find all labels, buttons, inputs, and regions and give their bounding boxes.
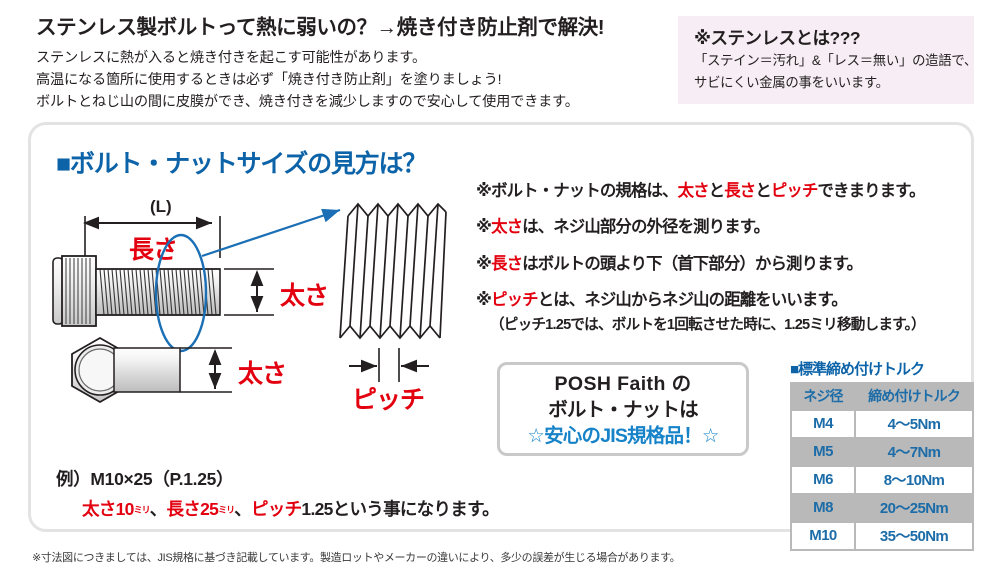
example-part-unit: ミリ xyxy=(134,505,150,515)
bullet-spec: ※ボルト・ナットの規格は、太さと長さとピッチできまります。 xyxy=(476,183,991,199)
table-header-row: ネジ径 締め付けトルク xyxy=(792,384,972,409)
bullet-part: ※ xyxy=(476,255,491,273)
thickness-label-bolt: 太さ xyxy=(280,282,328,310)
example-part: ピッチ xyxy=(251,499,301,519)
bullet-part-highlight: ピッチ xyxy=(491,291,538,309)
header-line: 高温になる箇所に使用するときは必ず「焼き付き防止剤」を塗りましょう! xyxy=(36,69,656,91)
table-row: M4 4〜5Nm xyxy=(792,411,972,437)
posh-faith-box: POSH Faith の ボルト・ナットは ☆安心のJIS規格品！☆ xyxy=(497,362,749,456)
page-title: ステンレス製ボルトって熱に弱いの？→焼き付き防止剤で解決! xyxy=(36,16,656,40)
cell-torque: 4〜7Nm xyxy=(856,439,972,465)
bullet-part: ※ xyxy=(476,291,491,309)
footnote: ※寸法図につきましては、JIS規格に基づき記載しています。製造ロットやメーカーの… xyxy=(32,549,680,565)
posh-line-2: ボルト・ナットは xyxy=(500,398,746,424)
cell-torque: 8〜10Nm xyxy=(856,467,972,493)
stainless-box-line: 「ステイン＝汚れ」&「レス＝無い」の造語で、 xyxy=(694,51,960,72)
torque-table-block: ■標準締め付けトルク ネジ径 締め付けトルク M4 4〜5Nm M5 4〜7Nm xyxy=(790,358,974,551)
column-header-torque: 締め付けトルク xyxy=(856,384,972,409)
example-part-unit: ミリ xyxy=(218,505,234,515)
stainless-box-title: ※ステンレスとは??? xyxy=(694,25,960,50)
table-row: M10 35〜50Nm xyxy=(792,523,972,549)
bullet-part-highlight: ピッチ xyxy=(771,182,818,200)
table-row: M8 20〜25Nm xyxy=(792,495,972,521)
example-line-2: 太さ10ミリ、長さ25ミリ、ピッチ1.25という事になります。 xyxy=(56,496,499,521)
bolt-nut-diagram: (L) 長さ xyxy=(52,196,482,461)
callout-leader-line xyxy=(202,210,340,256)
cell-torque: 20〜25Nm xyxy=(856,495,972,521)
header-description: ステンレスに熱が入ると焼き付きを起こす可能性があります。 高温になる箇所に使用す… xyxy=(36,47,656,113)
bullet-part-highlight: 太さ xyxy=(491,218,522,236)
bullet-part-highlight: 長さ xyxy=(724,182,755,200)
table-row: M5 4〜7Nm xyxy=(792,439,972,465)
bullet-part-highlight: 長さ xyxy=(491,255,522,273)
torque-table-title: ■標準締め付けトルク xyxy=(790,358,974,379)
bullet-pitch: ※ピッチとは、ネジ山からネジ山の距離をいいます。 xyxy=(476,292,991,308)
thickness-label-nut: 太さ xyxy=(238,360,286,388)
diagram-svg: (L) 長さ xyxy=(52,196,482,456)
cell-torque: 35〜50Nm xyxy=(856,523,972,549)
stainless-definition-box: ※ステンレスとは??? 「ステイン＝汚れ」&「レス＝無い」の造語で、 サビにくい… xyxy=(678,16,974,104)
column-header-size: ネジ径 xyxy=(792,384,854,409)
example-part: 、 xyxy=(150,499,167,519)
example-part: 長さ25 xyxy=(167,499,219,519)
cell-size: M10 xyxy=(792,523,854,549)
header-line: ステンレスに熱が入ると焼き付きを起こす可能性があります。 xyxy=(36,47,656,69)
bullet-part: ※ボルト・ナットの規格は、 xyxy=(476,182,678,200)
example-part: 、 xyxy=(234,499,251,519)
pitch-label: ピッチ xyxy=(352,386,424,414)
bullet-part: できまります。 xyxy=(817,182,924,200)
bullet-part: と xyxy=(709,182,725,200)
bullet-pitch-note: （ピッチ1.25では、ボルトを1回転させた時に、1.25ミリ移動します。） xyxy=(476,318,991,333)
bullet-part: はボルトの頭より下（首下部分）から測ります。 xyxy=(522,255,862,273)
bullet-part: とは、ネジ山からネジ山の距離をいいます。 xyxy=(538,291,847,309)
torque-table: ネジ径 締め付けトルク M4 4〜5Nm M5 4〜7Nm M6 8〜10Nm xyxy=(790,382,974,551)
posh-line-3: ☆安心のJIS規格品！☆ xyxy=(500,424,746,449)
infographic-page: ステンレス製ボルトって熱に弱いの？→焼き付き防止剤で解決! ステンレスに熱が入る… xyxy=(0,0,1000,572)
panel-title: ■ボルト・ナットサイズの見方は？ xyxy=(56,144,426,180)
example-block: 例）M10×25（P.1.25） 太さ10ミリ、長さ25ミリ、ピッチ1.25とい… xyxy=(56,466,499,521)
bullet-part: と xyxy=(755,182,771,200)
bullet-part: ※ xyxy=(476,218,491,236)
stainless-box-line: サビにくい金属の事をいいます。 xyxy=(694,73,960,94)
posh-line-1: POSH Faith の xyxy=(500,372,746,398)
bullet-part: は、ネジ山部分の外径を測ります。 xyxy=(522,218,769,236)
bullet-length: ※長さはボルトの頭より下（首下部分）から測ります。 xyxy=(476,256,991,272)
example-part: 1.25という事になります。 xyxy=(301,499,499,519)
cell-torque: 4〜5Nm xyxy=(856,411,972,437)
cell-size: M4 xyxy=(792,411,854,437)
example-part: 太さ10 xyxy=(82,499,134,519)
header-line: ボルトとねじ山の間に皮膜ができ、焼き付きを減少しますので安心して使用できます。 xyxy=(36,91,656,113)
bullet-list: ※ボルト・ナットの規格は、太さと長さとピッチできまります。 ※太さは、ネジ山部分… xyxy=(476,183,991,352)
bullet-part-highlight: 太さ xyxy=(678,182,709,200)
example-line-1: 例）M10×25（P.1.25） xyxy=(56,466,499,491)
table-row: M6 8〜10Nm xyxy=(792,467,972,493)
cell-size: M8 xyxy=(792,495,854,521)
bullet-thickness: ※太さは、ネジ山部分の外径を測ります。 xyxy=(476,219,991,235)
header-block: ステンレス製ボルトって熱に弱いの？→焼き付き防止剤で解決! ステンレスに熱が入る… xyxy=(36,16,656,113)
magnified-thread-profile xyxy=(340,204,446,338)
cell-size: M6 xyxy=(792,467,854,493)
cell-size: M5 xyxy=(792,439,854,465)
length-code-label: (L) xyxy=(150,197,172,216)
